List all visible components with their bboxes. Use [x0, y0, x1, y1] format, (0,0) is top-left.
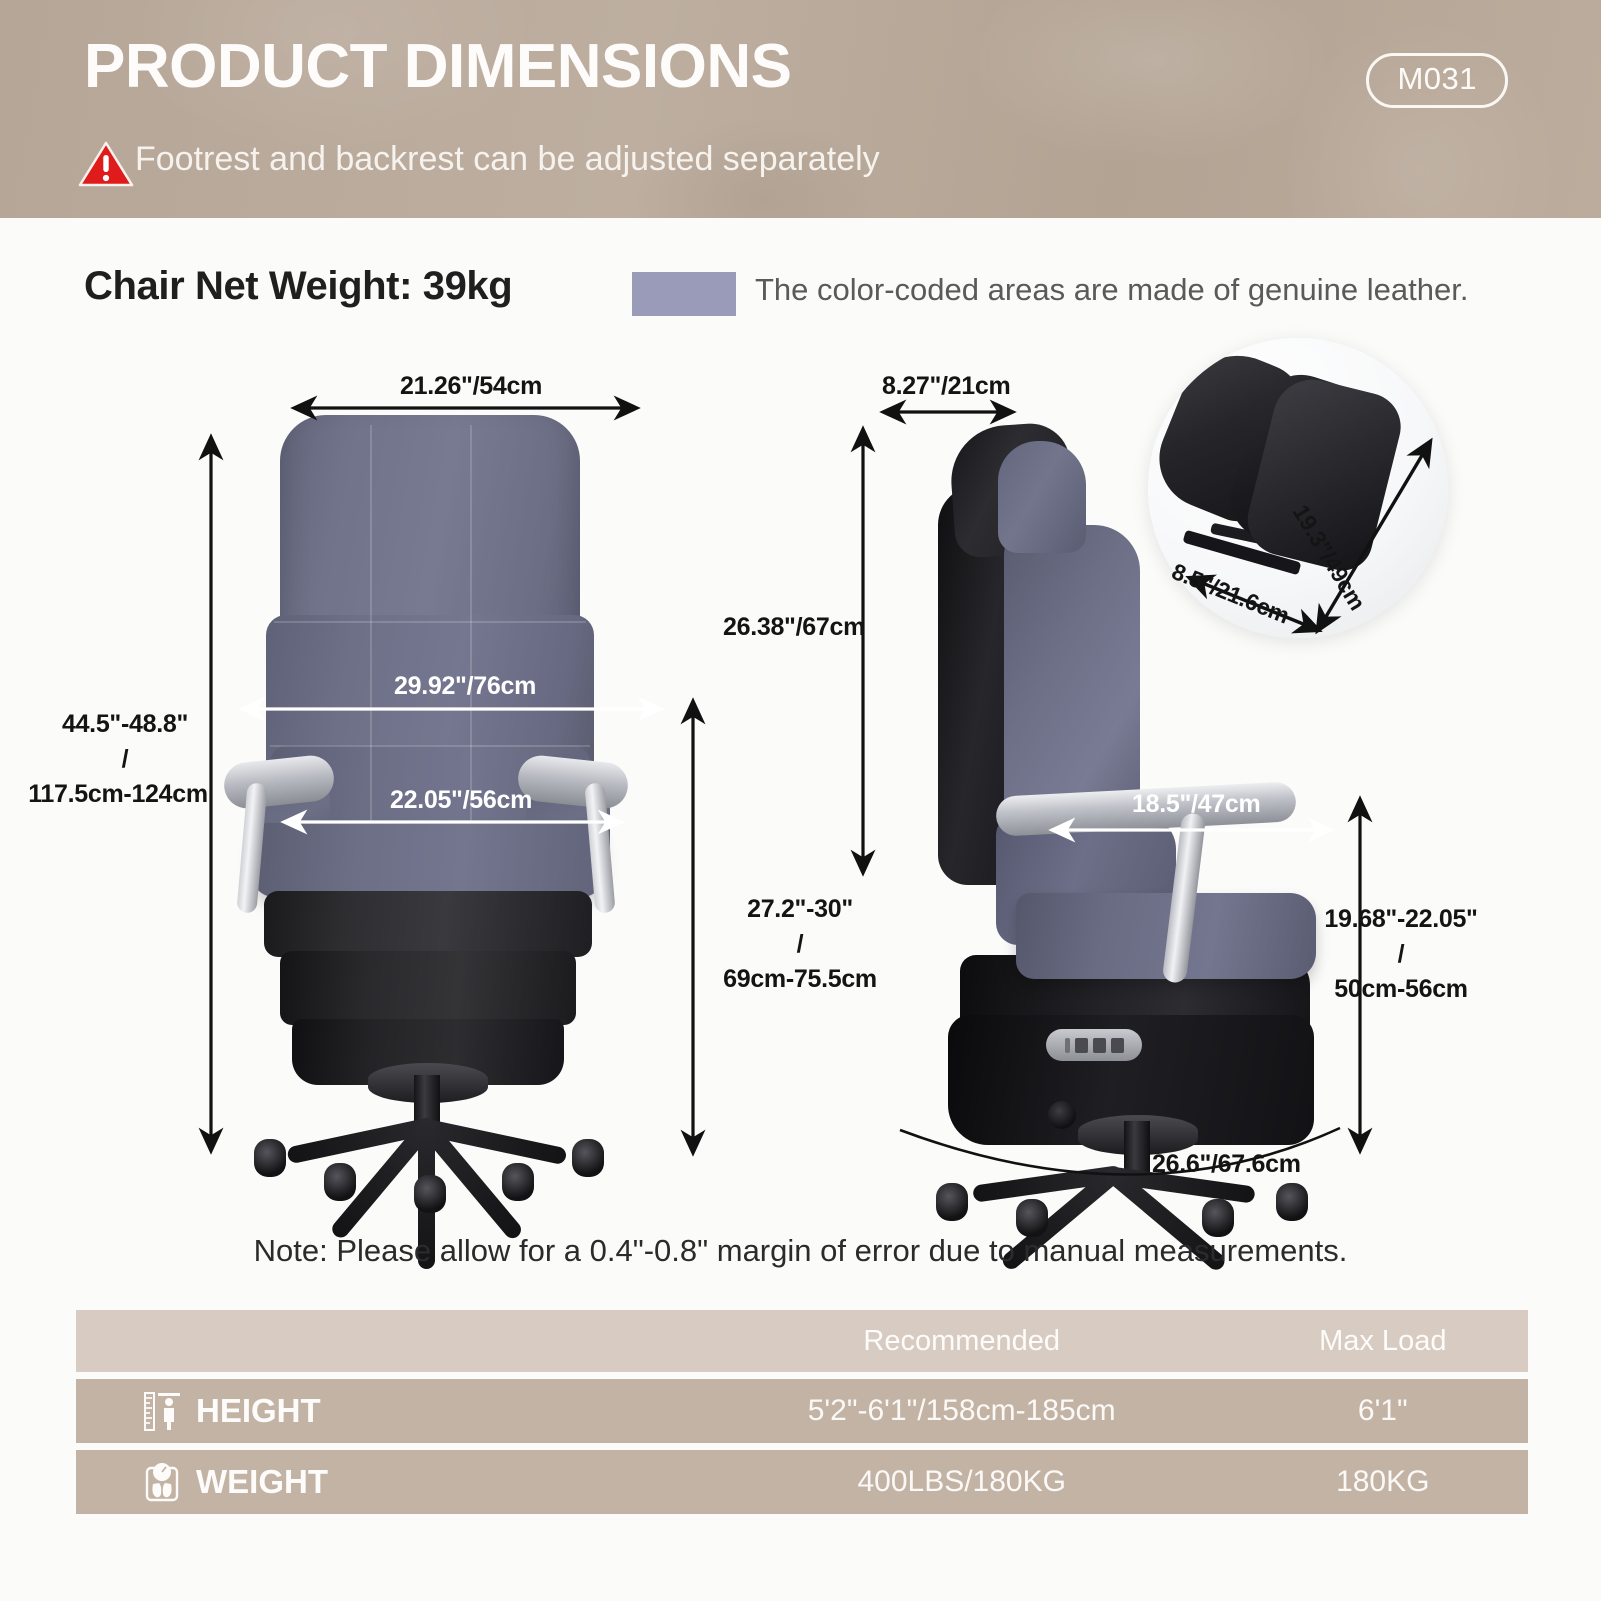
label-backrest-height: 26.38"/67cm: [723, 613, 865, 642]
page-title: PRODUCT DIMENSIONS: [84, 36, 791, 98]
warning-triangle-icon: [78, 141, 134, 187]
label-seat-height-line3: 50cm-56cm: [1276, 975, 1526, 1004]
weight-scale-icon: [142, 1460, 182, 1504]
label-backrest-width: 29.92"/76cm: [394, 672, 536, 701]
table-cell-weight-recommended: 400LBS/180KG: [686, 1465, 1238, 1499]
dimension-arrows: [0, 330, 1601, 1220]
label-depth-range-line1: 27.2"-30": [700, 895, 900, 924]
chair-net-weight: Chair Net Weight: 39kg: [84, 264, 512, 309]
model-badge: M031: [1366, 53, 1508, 108]
label-seat-height-line1: 19.68"-22.05": [1276, 905, 1526, 934]
header-banner: PRODUCT DIMENSIONS Footrest and backrest…: [0, 0, 1601, 218]
height-ruler-person-icon: [142, 1389, 182, 1433]
label-front-total-height-line1: 44.5"-48.8": [30, 710, 220, 739]
spec-table: Recommended Max Load HEIGHT 5'2"-6'1"/15…: [76, 1310, 1528, 1521]
table-cell-height-label: HEIGHT: [76, 1389, 686, 1433]
table-row-height: HEIGHT 5'2"-6'1"/158cm-185cm 6'1": [76, 1379, 1528, 1443]
leather-legend-swatch: [632, 272, 736, 316]
table-cell-weight-text: WEIGHT: [196, 1463, 328, 1501]
label-front-top-width: 21.26"/54cm: [400, 372, 542, 401]
table-header-recommended: Recommended: [686, 1325, 1238, 1358]
label-front-total-height-line3: 117.5cm-124cm: [18, 780, 218, 809]
label-seat-depth: 18.5"/47cm: [1132, 790, 1260, 819]
table-cell-weight-label: WEIGHT: [76, 1460, 686, 1504]
label-seat-width: 22.05"/56cm: [390, 786, 532, 815]
header-subtitle: Footrest and backrest can be adjusted se…: [135, 140, 880, 179]
table-cell-height-recommended: 5'2"-6'1"/158cm-185cm: [686, 1394, 1238, 1428]
table-header-row: Recommended Max Load: [76, 1310, 1528, 1372]
label-base-diameter: 26.6"/67.6cm: [1152, 1150, 1301, 1179]
dimensions-diagram: 21.26"/54cm 44.5"-48.8" / 117.5cm-124cm …: [0, 330, 1601, 1220]
label-depth-range-line3: 69cm-75.5cm: [692, 965, 908, 994]
label-front-total-height-line2: /: [30, 745, 220, 774]
measurement-note: Note: Please allow for a 0.4"-0.8" margi…: [0, 1233, 1601, 1269]
label-depth-range-line2: /: [700, 930, 900, 959]
leather-legend-text: The color-coded areas are made of genuin…: [755, 272, 1468, 308]
table-header-maxload: Max Load: [1238, 1325, 1528, 1358]
table-row-weight: WEIGHT 400LBS/180KG 180KG: [76, 1450, 1528, 1514]
table-cell-height-maxload: 6'1": [1238, 1394, 1528, 1428]
table-cell-height-text: HEIGHT: [196, 1392, 321, 1430]
label-headrest-width: 8.27"/21cm: [882, 372, 1010, 401]
label-seat-height-line2: /: [1276, 940, 1526, 969]
table-cell-weight-maxload: 180KG: [1238, 1465, 1528, 1499]
